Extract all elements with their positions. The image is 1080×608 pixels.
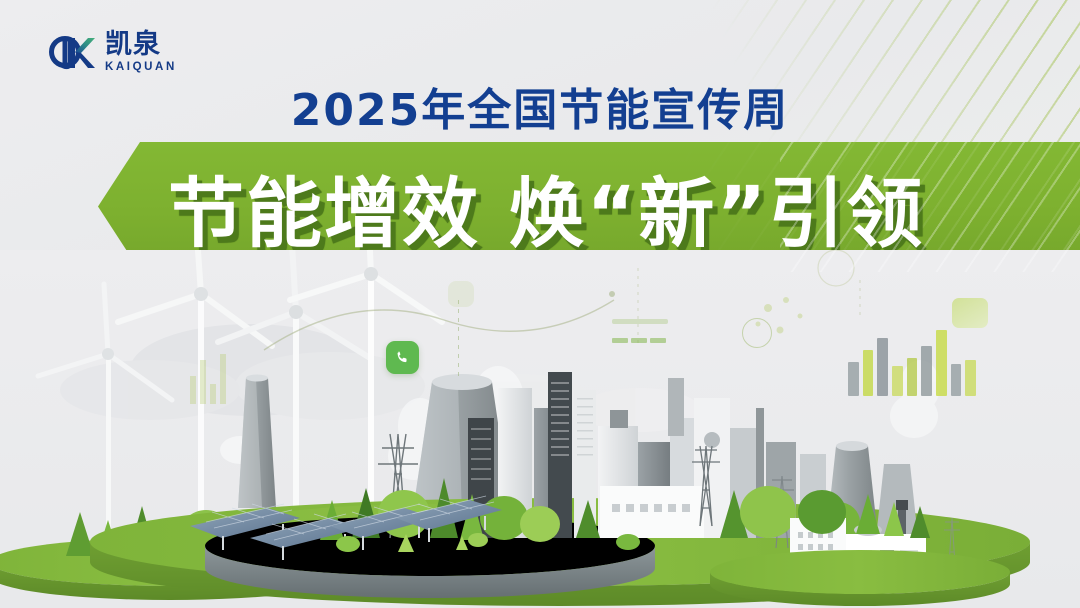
bar-4 [892, 366, 903, 396]
chimney [668, 378, 684, 436]
illustration-svg [0, 250, 1080, 608]
badge-segment [612, 338, 628, 343]
decorative-badge-cap [612, 319, 668, 324]
logo-wordmark: 凯泉 KAIQUAN [105, 31, 177, 74]
broadleaf-tree [480, 496, 528, 540]
broadleaf-tree [520, 506, 560, 542]
bar-3 [877, 338, 888, 396]
poster-canvas: 凯泉 KAIQUAN 2025年全国节能宣传周 节能增效 焕“新”引领 [0, 0, 1080, 608]
bar-8 [951, 364, 962, 396]
bar-1 [848, 362, 859, 396]
logo-english-name: KAIQUAN [105, 62, 177, 74]
bar-6 [921, 346, 932, 396]
logo-chinese-name: 凯泉 [105, 31, 177, 58]
right-grass-island [710, 550, 1010, 606]
decorative-badge-pill [612, 327, 668, 343]
decorative-bar-chart [848, 318, 976, 396]
decorative-dashed-line [458, 300, 459, 378]
kaiquan-logo-mark-icon [48, 30, 96, 75]
badge-segment [650, 338, 666, 343]
decorative-rounded-square [448, 281, 474, 307]
broadleaf-tree [740, 486, 796, 538]
bar-2 [863, 350, 874, 396]
bar-9 [965, 360, 976, 396]
phone-icon-badge[interactable] [386, 341, 419, 374]
badge-segment [631, 338, 647, 343]
banner-edge-stripes [780, 142, 1080, 272]
decorative-ring-outline [742, 318, 772, 348]
bar-5 [907, 358, 918, 396]
broadleaf-tree [798, 490, 846, 534]
page-title: 2025年全国节能宣传周 [0, 74, 1080, 138]
green-energy-city-illustration [0, 250, 1080, 608]
phone-icon [394, 349, 411, 366]
kaiquan-logo[interactable]: 凯泉 KAIQUAN [48, 30, 177, 75]
bar-7 [936, 330, 947, 396]
